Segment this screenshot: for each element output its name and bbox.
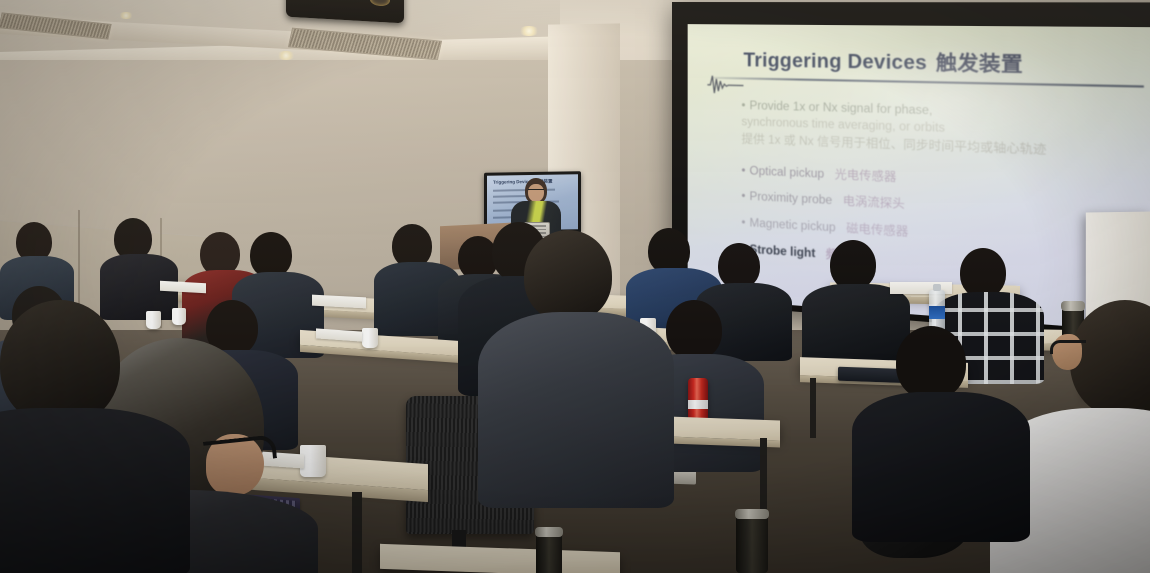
- dark-thermos: [736, 514, 768, 573]
- person-torso: [852, 392, 1030, 542]
- thermos-cap: [535, 527, 563, 537]
- slide-title: Triggering Devices触发装置: [713, 44, 1150, 80]
- bullet-dot-icon: •: [741, 99, 745, 111]
- person-torso: [0, 408, 190, 573]
- paper-cup: [172, 308, 186, 325]
- person-torso: [478, 312, 674, 508]
- classroom-photo: Triggering Devices触发装置 •Provide 1x or Nx…: [0, 0, 1150, 573]
- bullet-dot-icon: •: [741, 191, 745, 203]
- bullet-dot-icon: •: [741, 164, 745, 176]
- ceiling-downlight: [118, 12, 134, 19]
- projector-lens-icon: [370, 0, 390, 7]
- glasses-icon: [1050, 340, 1086, 354]
- bullet-text-cn: 磁电传感器: [846, 222, 908, 238]
- dark-thermos: [536, 532, 562, 573]
- bullet-text-en: Magnetic pickup: [750, 217, 836, 234]
- slide-bullets: •Provide 1x or Nx signal for phase, sync…: [713, 97, 1150, 286]
- bullet-text-en: Optical pickup: [750, 165, 825, 181]
- slide-title-cn: 触发装置: [936, 52, 1023, 76]
- slide-title-en: Triggering Devices: [743, 50, 927, 75]
- person-head: [666, 300, 722, 360]
- waveform-icon: [707, 71, 743, 103]
- paper-cup: [362, 328, 378, 348]
- presenter-face: [528, 184, 544, 202]
- ceiling-downlight: [518, 26, 540, 36]
- paper-cup: [146, 311, 161, 329]
- person-head: [896, 326, 966, 400]
- person-head: [960, 248, 1006, 298]
- bullet-dot-icon: •: [741, 217, 745, 229]
- bullet-text-cn: 电涡流探头: [843, 195, 905, 211]
- desk-leg: [810, 378, 816, 438]
- thermos-cap: [735, 509, 769, 519]
- glasses-icon: [528, 189, 544, 193]
- bullet-text-en: Strobe light: [750, 243, 816, 259]
- person-head: [524, 230, 612, 322]
- bottle-label: [929, 306, 945, 319]
- thermos-cap: [1061, 301, 1085, 311]
- person-head: [830, 240, 876, 290]
- ceiling-downlight: [276, 51, 296, 60]
- bullet-item: •Provide 1x or Nx signal for phase, sync…: [741, 97, 1150, 164]
- bullet-text-en: Proximity probe: [750, 191, 833, 207]
- bottle-neck: [933, 284, 941, 291]
- desk-leg: [352, 492, 362, 573]
- thermos-band: [688, 400, 708, 409]
- bullet-text-cn: 光电传感器: [835, 168, 897, 183]
